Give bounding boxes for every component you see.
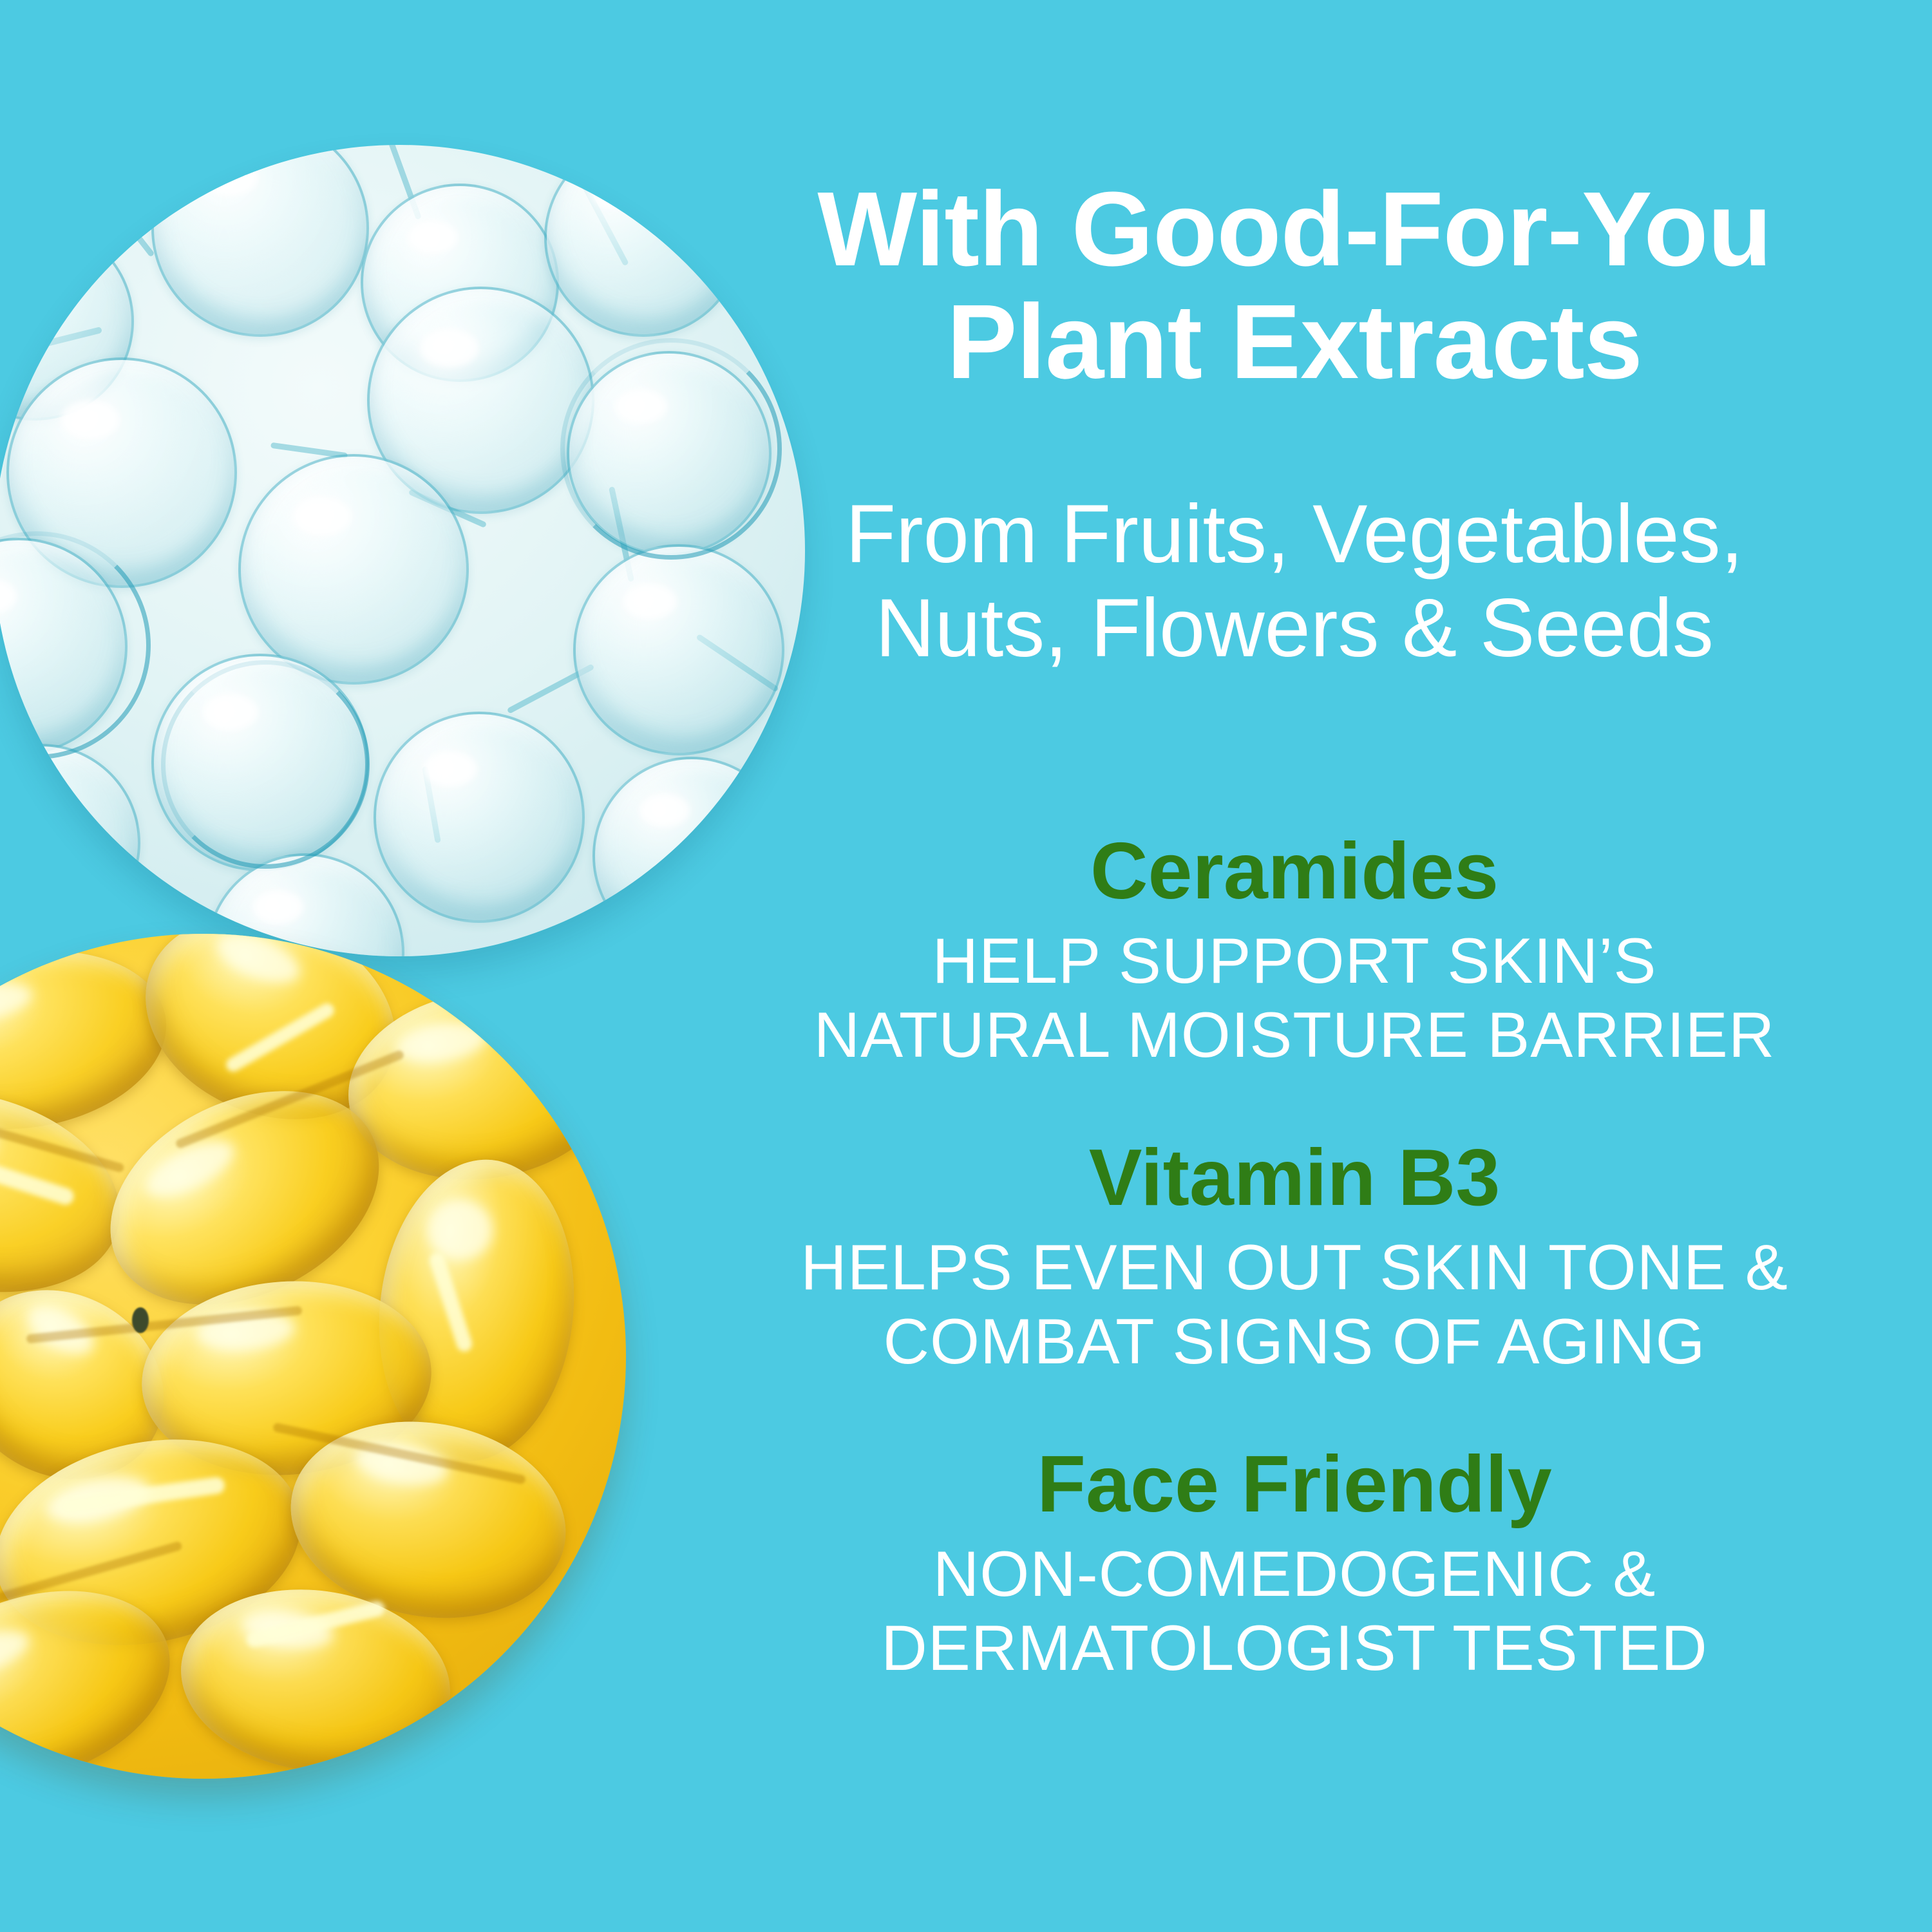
benefit-item-vitamin-b3: Vitamin B3 HELPS EVEN OUT SKIN TONE & CO… (766, 1134, 1823, 1379)
bubbles-circle-image (0, 145, 805, 956)
benefit-description: NON-COMEDOGENIC & DERMATOLOGIST TESTED (766, 1537, 1823, 1685)
subtitle: From Fruits, Vegetables, Nuts, Flowers &… (766, 488, 1823, 676)
benefit-description: HELPS EVEN OUT SKIN TONE & COMBAT SIGNS … (766, 1231, 1823, 1379)
benefit-description-line-1: NON-COMEDOGENIC & (766, 1537, 1823, 1611)
infographic-canvas: With Good-For-You Plant Extracts From Fr… (0, 0, 1932, 1932)
benefit-title: Ceramides (766, 828, 1823, 915)
benefit-description-line-2: COMBAT SIGNS OF AGING (766, 1305, 1823, 1379)
copy-column: With Good-For-You Plant Extracts From Fr… (766, 0, 1823, 1932)
benefit-description: HELP SUPPORT SKIN’S NATURAL MOISTURE BAR… (766, 924, 1823, 1072)
headline-line-2: Plant Extracts (766, 285, 1823, 398)
subtitle-line-1: From Fruits, Vegetables, (766, 488, 1823, 582)
benefit-item-ceramides: Ceramides HELP SUPPORT SKIN’S NATURAL MO… (766, 828, 1823, 1072)
benefit-description-line-2: NATURAL MOISTURE BARRIER (766, 998, 1823, 1072)
benefit-description-line-2: DERMATOLOGIST TESTED (766, 1611, 1823, 1685)
benefit-description-line-1: HELP SUPPORT SKIN’S (766, 924, 1823, 998)
benefit-item-face-friendly: Face Friendly NON-COMEDOGENIC & DERMATOL… (766, 1441, 1823, 1685)
benefits-list: Ceramides HELP SUPPORT SKIN’S NATURAL MO… (766, 828, 1823, 1685)
benefit-description-line-1: HELPS EVEN OUT SKIN TONE & (766, 1231, 1823, 1305)
benefit-title: Face Friendly (766, 1441, 1823, 1528)
page-title: With Good-For-You Plant Extracts (766, 173, 1823, 399)
capsules-circle-image (0, 934, 626, 1779)
headline-line-1: With Good-For-You (766, 173, 1823, 285)
benefit-title: Vitamin B3 (766, 1134, 1823, 1222)
subtitle-line-2: Nuts, Flowers & Seeds (766, 582, 1823, 676)
